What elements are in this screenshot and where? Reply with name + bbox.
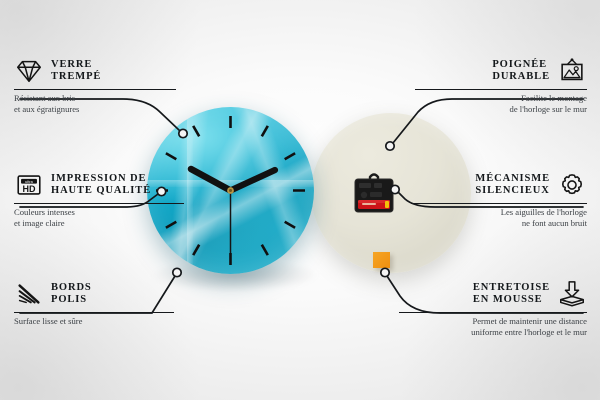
- divider: [411, 203, 587, 204]
- feature-title: BORDS POLIS: [51, 282, 92, 307]
- feature-verre-trempe: VERRE TREMPÉ Résistant aux bris et aux é…: [14, 56, 176, 114]
- feature-header: BORDS POLIS: [14, 279, 174, 309]
- feature-header: ultra HD IMPRESSION DE HAUTE QUALITÉ: [14, 170, 184, 200]
- feature-desc-line1: Permet de maintenir une distance: [399, 316, 587, 326]
- ultra-hd-icon: ultra HD: [14, 170, 44, 200]
- feature-desc-line2: ne font aucun bruit: [411, 218, 587, 228]
- picture-frame-hanger-icon: [557, 56, 587, 86]
- feature-title: MÉCANISME SILENCIEUX: [475, 173, 550, 198]
- feature-header: POIGNÉE DURABLE: [415, 56, 587, 86]
- divider: [14, 312, 174, 313]
- feature-poignee-durable: POIGNÉE DURABLE Facilite le montage de l…: [415, 56, 587, 114]
- feature-desc-line1: Surface lisse et sûre: [14, 316, 174, 326]
- feature-title: IMPRESSION DE HAUTE QUALITÉ: [51, 173, 151, 198]
- feature-desc-line2: et image claire: [14, 218, 184, 228]
- feature-bords-polis: BORDS POLIS Surface lisse et sûre: [14, 279, 174, 327]
- feature-desc-line1: Couleurs intenses: [14, 207, 184, 217]
- feature-title: POIGNÉE DURABLE: [492, 59, 550, 84]
- feature-desc-line2: uniforme entre l'horloge et le mur: [399, 327, 587, 337]
- foam-spacer-arrow-icon: [557, 279, 587, 309]
- feature-header: ENTRETOISE EN MOUSSE: [399, 279, 587, 309]
- feature-impression-haute-qualite: ultra HD IMPRESSION DE HAUTE QUALITÉ Cou…: [14, 170, 184, 228]
- gear-icon: [557, 170, 587, 200]
- feature-title: VERRE TREMPÉ: [51, 59, 101, 84]
- divider: [415, 89, 587, 90]
- divider: [14, 203, 184, 204]
- feature-desc-line2: de l'horloge sur le mur: [415, 104, 587, 114]
- feature-desc-line2: et aux égratignures: [14, 104, 176, 114]
- divider: [399, 312, 587, 313]
- svg-text:HD: HD: [23, 184, 36, 194]
- feature-desc-line1: Facilite le montage: [415, 93, 587, 103]
- diamond-icon: [14, 56, 44, 86]
- polished-edges-icon: [14, 279, 44, 309]
- feature-mecanisme-silencieux: MÉCANISME SILENCIEUX Les aiguilles de l'…: [411, 170, 587, 228]
- divider: [14, 89, 176, 90]
- feature-header: VERRE TREMPÉ: [14, 56, 176, 86]
- feature-entretoise-en-mousse: ENTRETOISE EN MOUSSE Permet de maintenir…: [399, 279, 587, 337]
- feature-desc-line1: Les aiguilles de l'horloge: [411, 207, 587, 217]
- feature-header: MÉCANISME SILENCIEUX: [411, 170, 587, 200]
- feature-title: ENTRETOISE EN MOUSSE: [473, 282, 550, 307]
- feature-desc-line1: Résistant aux bris: [14, 93, 176, 103]
